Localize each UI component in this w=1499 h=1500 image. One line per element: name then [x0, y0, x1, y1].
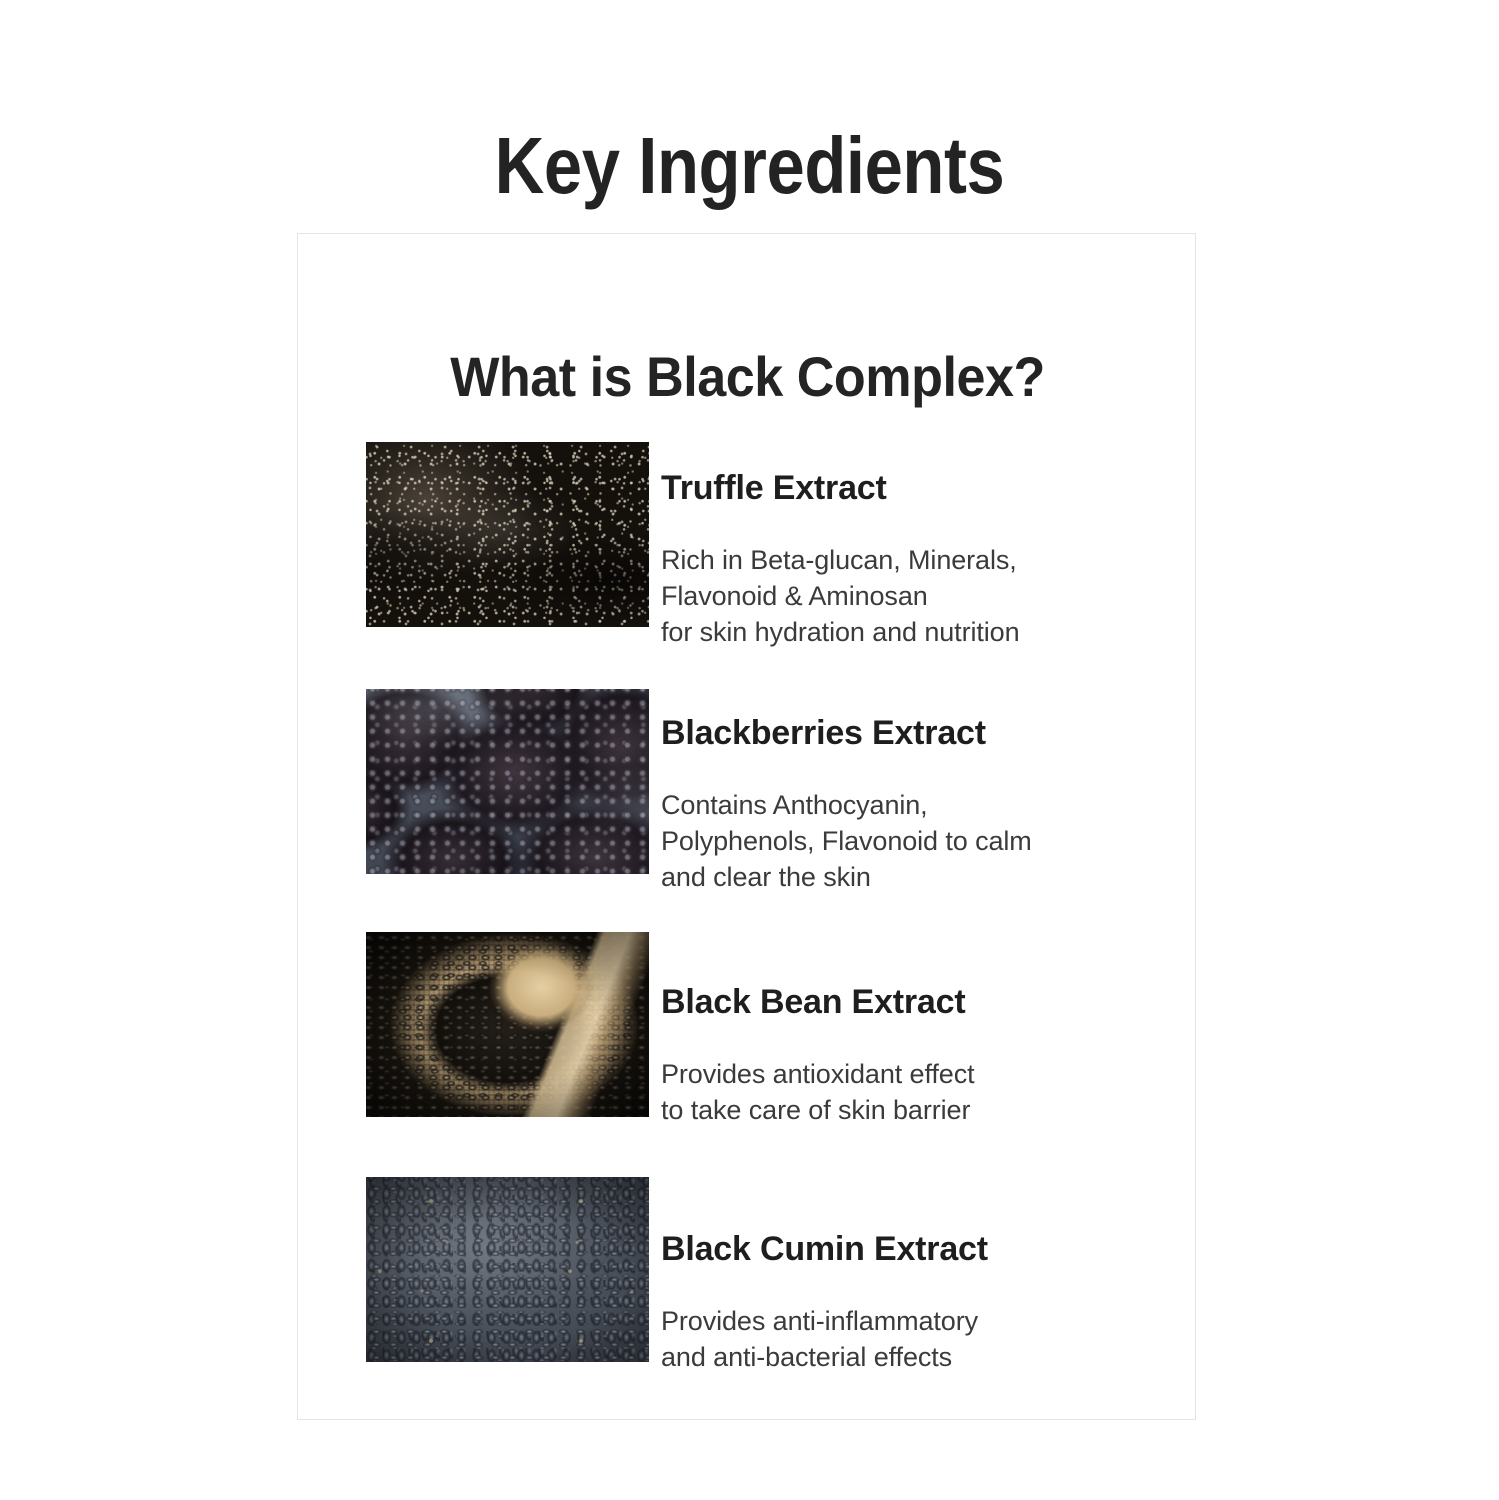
blackberries-photo-gloss [366, 689, 649, 874]
description-line: for skin hydration and nutrition [661, 614, 1166, 650]
ingredient-text-truffle: Truffle Extract Rich in Beta-glucan, Min… [661, 434, 1166, 677]
ingredient-list: Truffle Extract Rich in Beta-glucan, Min… [298, 234, 1197, 1421]
ingredient-description: Provides anti-inflammatory and anti-bact… [661, 1303, 1166, 1375]
ingredient-text-black-cumin: Black Cumin Extract Provides anti-inflam… [661, 1195, 1166, 1402]
blackberries-photo [366, 689, 649, 874]
truffle-photo-shading [366, 442, 649, 627]
description-line: and clear the skin [661, 859, 1166, 895]
ingredients-page: Key Ingredients What is Black Complex? T… [0, 0, 1499, 1500]
ingredient-title: Black Bean Extract [661, 982, 1166, 1022]
description-line: Rich in Beta-glucan, Minerals, [661, 542, 1166, 578]
truffle-photo [366, 442, 649, 627]
black-bean-photo-vignette [366, 932, 649, 1117]
description-line: Polyphenols, Flavonoid to calm [661, 823, 1166, 859]
black-complex-card: What is Black Complex? Truffle Extract R… [297, 233, 1196, 1420]
ingredient-description: Provides antioxidant effect to take care… [661, 1056, 1166, 1128]
ingredient-description: Contains Anthocyanin, Polyphenols, Flavo… [661, 787, 1166, 895]
description-line: to take care of skin barrier [661, 1092, 1166, 1128]
black-bean-photo [366, 932, 649, 1117]
description-line: Provides antioxidant effect [661, 1056, 1166, 1092]
page-title: Key Ingredients [105, 116, 1394, 216]
description-line: Flavonoid & Aminosan [661, 578, 1166, 614]
description-line: Contains Anthocyanin, [661, 787, 1166, 823]
ingredient-text-blackberries: Blackberries Extract Contains Anthocyani… [661, 679, 1166, 922]
ingredient-title: Truffle Extract [661, 468, 1166, 508]
ingredient-text-black-bean: Black Bean Extract Provides antioxidant … [661, 948, 1166, 1155]
ingredient-description: Rich in Beta-glucan, Minerals, Flavonoid… [661, 542, 1166, 650]
description-line: Provides anti-inflammatory [661, 1303, 1166, 1339]
ingredient-title: Blackberries Extract [661, 713, 1166, 753]
black-cumin-photo-shading [366, 1177, 649, 1362]
ingredient-title: Black Cumin Extract [661, 1229, 1166, 1269]
black-cumin-photo [366, 1177, 649, 1362]
description-line: and anti-bacterial effects [661, 1339, 1166, 1375]
